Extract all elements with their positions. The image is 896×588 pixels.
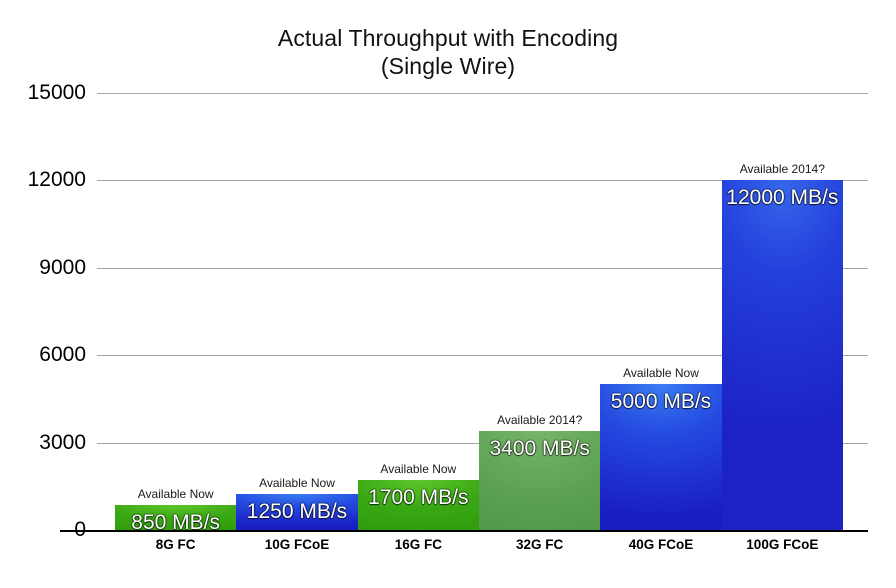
bars-layer: 850 MB/sAvailable Now1250 MB/sAvailable …	[115, 0, 843, 588]
bar-value-label: 1250 MB/s	[236, 500, 357, 524]
bar-availability-note: Available Now	[600, 366, 721, 380]
bar-column: 3400 MB/sAvailable 2014?	[479, 431, 600, 530]
bar-availability-note: Available Now	[115, 487, 236, 501]
category-labels: 8G FC10G FCoE16G FC32G FC40G FCoE100G FC…	[115, 537, 843, 563]
bar-value-label: 5000 MB/s	[600, 390, 721, 414]
bar[interactable]: 850 MB/s	[115, 505, 236, 530]
chart-container: Actual Throughput with Encoding (Single …	[0, 0, 896, 588]
y-axis-labels: 03000600090001200015000	[0, 0, 86, 588]
y-axis-tick-label: 12000	[0, 168, 86, 192]
bar-value-label: 1700 MB/s	[358, 486, 479, 510]
bar-column: 850 MB/sAvailable Now	[115, 505, 236, 530]
bar-value-label: 3400 MB/s	[479, 437, 600, 461]
x-axis-category-label: 100G FCoE	[722, 537, 843, 552]
bar[interactable]: 12000 MB/s	[722, 180, 843, 530]
bar[interactable]: 5000 MB/s	[600, 384, 721, 530]
bar-column: 1700 MB/sAvailable Now	[358, 480, 479, 530]
y-axis-tick-label: 3000	[0, 431, 86, 455]
x-axis-category-label: 32G FC	[479, 537, 600, 552]
bar-value-label: 850 MB/s	[115, 511, 236, 535]
x-axis-category-label: 16G FC	[358, 537, 479, 552]
x-axis-category-label: 40G FCoE	[600, 537, 721, 552]
bar-column: 12000 MB/sAvailable 2014?	[722, 180, 843, 530]
bar[interactable]: 1250 MB/s	[236, 494, 357, 530]
bar-availability-note: Available Now	[358, 462, 479, 476]
bar-availability-note: Available 2014?	[722, 162, 843, 176]
bar[interactable]: 1700 MB/s	[358, 480, 479, 530]
bar-column: 5000 MB/sAvailable Now	[600, 384, 721, 530]
x-axis-category-label: 8G FC	[115, 537, 236, 552]
y-axis-tick-label: 15000	[0, 81, 86, 105]
bar[interactable]: 3400 MB/s	[479, 431, 600, 530]
y-axis-tick-label: 6000	[0, 343, 86, 367]
x-axis-category-label: 10G FCoE	[236, 537, 357, 552]
bar-availability-note: Available 2014?	[479, 413, 600, 427]
bar-value-label: 12000 MB/s	[722, 186, 843, 210]
bar-availability-note: Available Now	[236, 476, 357, 490]
y-axis-tick-label: 9000	[0, 256, 86, 280]
bar-column: 1250 MB/sAvailable Now	[236, 494, 357, 530]
